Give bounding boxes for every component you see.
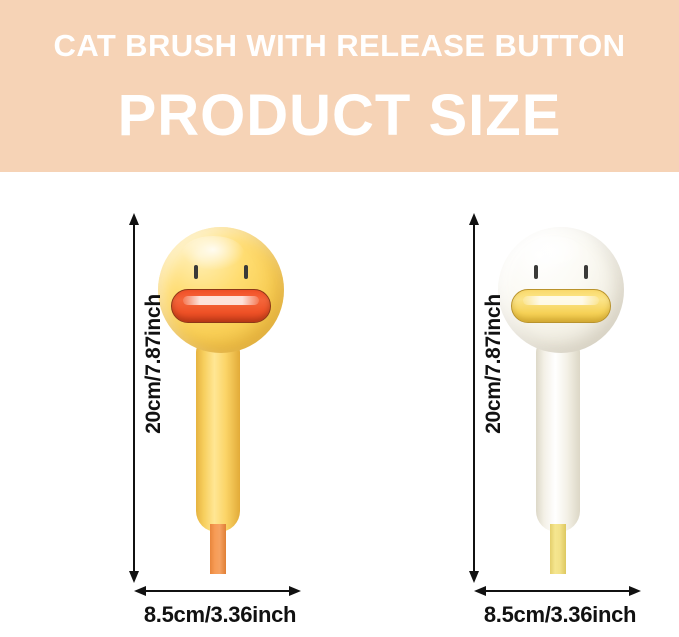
button-highlight-icon [523, 296, 599, 305]
button-highlight-icon [183, 296, 259, 305]
width-dimension-label: 8.5cm/3.36inch [460, 602, 660, 628]
release-button[interactable] [171, 289, 271, 323]
height-dimension-label: 20cm/7.87inch [482, 294, 506, 434]
brush-handle [196, 340, 240, 532]
brush-release-tip [550, 524, 566, 574]
height-dimension-label: 20cm/7.87inch [142, 294, 166, 434]
header-banner: CAT BRUSH WITH RELEASE BUTTON PRODUCT SI… [0, 0, 679, 172]
brush-release-tip [210, 524, 226, 574]
height-dimension-arrow [473, 224, 475, 572]
eye-left-icon [534, 265, 538, 279]
brush-head [498, 227, 624, 353]
eye-right-icon [584, 265, 588, 279]
page-title: PRODUCT SIZE [0, 87, 679, 145]
head-highlight-icon [522, 236, 584, 270]
brush-illustration-yellow [0, 172, 340, 637]
release-button[interactable] [511, 289, 611, 323]
head-highlight-icon [182, 236, 244, 270]
brush-head [158, 227, 284, 353]
product-size-diagram: 20cm/7.87inch 8.5cm/3.36inch 20cm/7.87in… [0, 172, 679, 637]
product-white-cat-brush: 20cm/7.87inch 8.5cm/3.36inch [340, 172, 679, 637]
eye-right-icon [244, 265, 248, 279]
width-dimension-arrow [485, 590, 630, 592]
brush-illustration-white [340, 172, 679, 637]
width-dimension-label: 8.5cm/3.36inch [120, 602, 320, 628]
header-subtitle: CAT BRUSH WITH RELEASE BUTTON [0, 30, 679, 61]
eye-left-icon [194, 265, 198, 279]
width-dimension-arrow [145, 590, 290, 592]
height-dimension-arrow [133, 224, 135, 572]
brush-handle [536, 340, 580, 532]
product-yellow-cat-brush: 20cm/7.87inch 8.5cm/3.36inch [0, 172, 340, 637]
